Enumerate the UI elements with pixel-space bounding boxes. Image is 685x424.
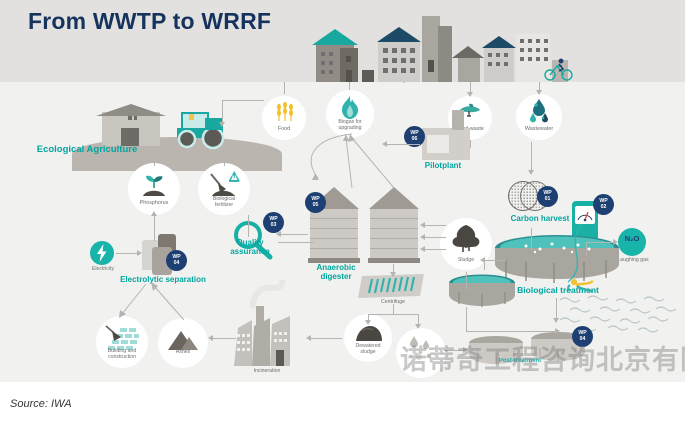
label-quality-assurance: Quality assurance	[212, 239, 288, 257]
label-electricity: Electricity	[86, 267, 120, 273]
badge-wp04a: WP 04	[166, 250, 187, 271]
arrowhead	[613, 239, 618, 245]
shovel-recycle-icon	[206, 169, 242, 199]
label-ecological-agriculture: Ecological Agriculture	[12, 145, 162, 156]
arrowhead	[151, 148, 157, 153]
page-title: From WWTP to WRRF	[28, 8, 271, 35]
arrowhead	[390, 272, 396, 277]
barn-icon	[96, 100, 166, 148]
arrowhead	[276, 231, 281, 237]
connector	[116, 253, 138, 254]
label-wastewater: Wastewater	[512, 126, 566, 132]
connector	[393, 304, 394, 314]
arrowhead	[382, 141, 387, 147]
watermark-text: 诺蒂奇工程咨询北京有限公司	[400, 338, 685, 386]
arrowhead	[480, 257, 485, 263]
connector	[154, 152, 155, 166]
roof-icon	[482, 36, 516, 48]
arrowhead	[420, 246, 425, 252]
arrowhead	[528, 170, 534, 175]
connector	[284, 82, 285, 94]
arrowhead	[208, 335, 213, 341]
wp-line2: 01	[545, 197, 551, 202]
arrowhead	[306, 335, 311, 341]
arrowhead	[137, 250, 142, 256]
sludge-splat-icon	[450, 224, 482, 254]
connector	[224, 152, 225, 166]
connector-diagonal	[112, 282, 158, 322]
connector	[310, 338, 342, 339]
smoke-icon	[248, 280, 288, 310]
sprout-icon	[139, 170, 169, 200]
city-building	[362, 70, 374, 82]
label-incineration: Incineration	[232, 369, 302, 375]
wp-line2: 05	[313, 203, 319, 208]
water-drops-icon	[527, 99, 551, 125]
connector	[212, 338, 236, 339]
clarifier-tank-icon	[447, 273, 517, 313]
connector	[222, 100, 264, 101]
label-biological-fertilizer: Biological fertilizer	[196, 197, 252, 209]
infographic-page: From WWTP to WRRF	[0, 0, 685, 424]
arrowhead	[555, 328, 560, 334]
arrowhead	[553, 318, 559, 323]
connector	[424, 249, 446, 250]
arrowhead	[420, 222, 425, 228]
cyclist-icon	[544, 58, 574, 82]
lightning-bolt-icon	[89, 240, 115, 266]
label-phosphorus: Phosphorus	[126, 200, 182, 206]
connector	[222, 100, 223, 124]
connector	[154, 215, 155, 241]
badge-wp03: WP 03	[263, 212, 284, 233]
roof-icon	[452, 46, 484, 58]
city-building	[458, 58, 480, 82]
sludge-pile-icon	[354, 322, 384, 344]
connector	[556, 298, 557, 320]
label-dewatered-sludge: Dewatered sludge	[342, 344, 394, 356]
label-city: City	[370, 82, 430, 83]
connector-diagonal	[332, 130, 432, 192]
city-skyline	[316, 14, 576, 82]
arrowhead	[415, 324, 421, 329]
wheat-icon	[274, 102, 296, 122]
badge-wp02: WP 02	[593, 194, 614, 215]
label-ashes: Ashes	[158, 350, 208, 356]
connector	[386, 144, 420, 145]
arrowhead	[536, 90, 542, 95]
arrowhead	[365, 320, 371, 325]
city-building	[438, 26, 452, 82]
arrowhead	[221, 148, 227, 153]
connector	[466, 307, 467, 331]
roof-icon	[377, 27, 421, 42]
connector	[349, 82, 350, 90]
arrowhead	[219, 122, 225, 127]
connector	[531, 142, 532, 172]
connector-curve-measure	[524, 222, 604, 302]
wp-line2: 03	[271, 223, 277, 228]
connector	[424, 237, 446, 238]
connector	[484, 260, 506, 261]
arrowhead	[420, 234, 425, 240]
connector	[466, 331, 556, 332]
source-caption: Source: IWA	[10, 398, 72, 410]
roof-icon	[312, 29, 358, 45]
tractor-icon	[175, 110, 233, 150]
diagram-canvas: Ecological Agriculture Food Biogas for u…	[0, 82, 685, 382]
label-building-construction: Building and construction	[94, 349, 150, 361]
badge-wp01: WP 01	[537, 186, 558, 207]
connector	[278, 242, 314, 243]
arrowhead	[151, 211, 157, 216]
connector	[280, 234, 308, 235]
connector	[470, 140, 471, 148]
footer-band	[0, 382, 685, 424]
connector	[466, 272, 467, 290]
wp-line2: 02	[601, 205, 607, 210]
connector	[248, 215, 249, 237]
connector	[368, 314, 418, 315]
arrowhead	[467, 92, 473, 97]
connector	[424, 225, 446, 226]
factory-icon	[228, 304, 306, 370]
wp-line2: 04	[174, 261, 180, 266]
flame-icon	[339, 96, 361, 120]
